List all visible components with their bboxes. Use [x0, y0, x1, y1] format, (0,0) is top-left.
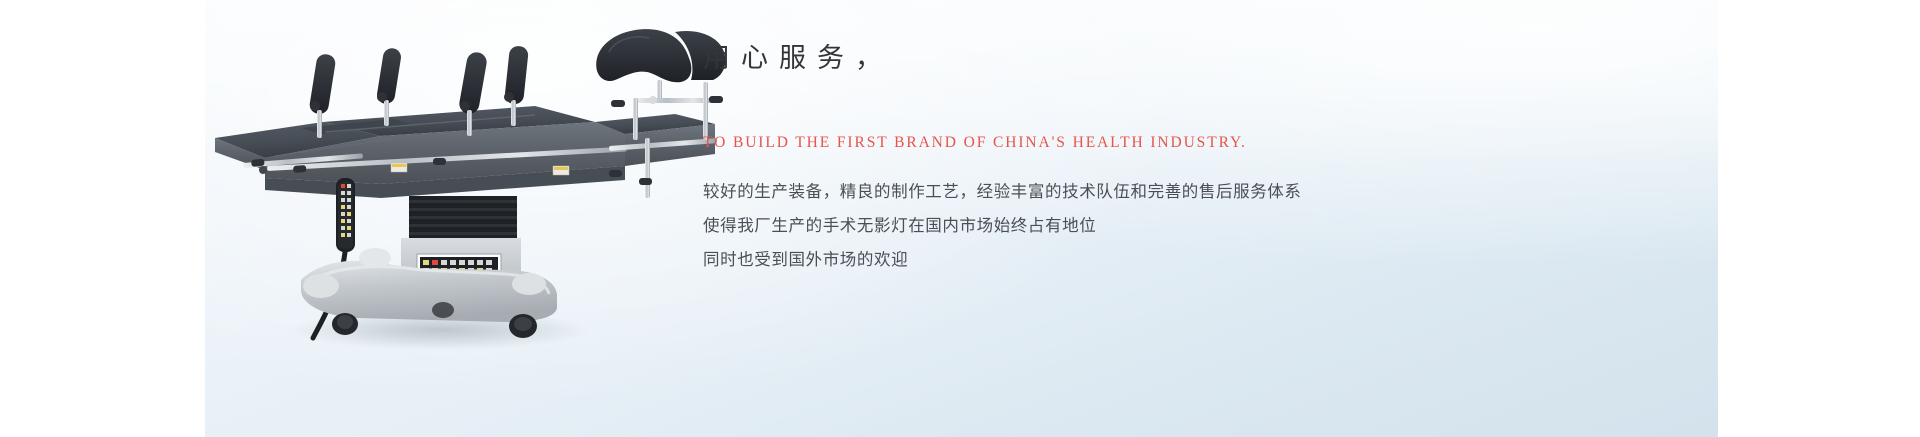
- banner-page: 用心服务， TO BUILD THE FIRST BRAND OF CHINA'…: [0, 0, 1920, 437]
- promo-banner: 用心服务， TO BUILD THE FIRST BRAND OF CHINA'…: [205, 0, 1718, 437]
- english-tagline: TO BUILD THE FIRST BRAND OF CHINA'S HEAL…: [703, 76, 1533, 152]
- body-line: 同时也受到国外市场的欢迎: [703, 243, 1533, 277]
- operating-table-illustration: [205, 18, 725, 358]
- banner-copy: 用心服务， TO BUILD THE FIRST BRAND OF CHINA'…: [703, 42, 1533, 277]
- page-title: 用心服务，: [703, 42, 1533, 76]
- body-line: 较好的生产装备，精良的制作工艺，经验丰富的技术队伍和完善的售后服务体系: [703, 175, 1533, 209]
- operating-table-image: [205, 18, 725, 358]
- body-line: 使得我厂生产的手术无影灯在国内市场始终占有地位: [703, 209, 1533, 243]
- body-copy: 较好的生产装备，精良的制作工艺，经验丰富的技术队伍和完善的售后服务体系 使得我厂…: [703, 152, 1533, 277]
